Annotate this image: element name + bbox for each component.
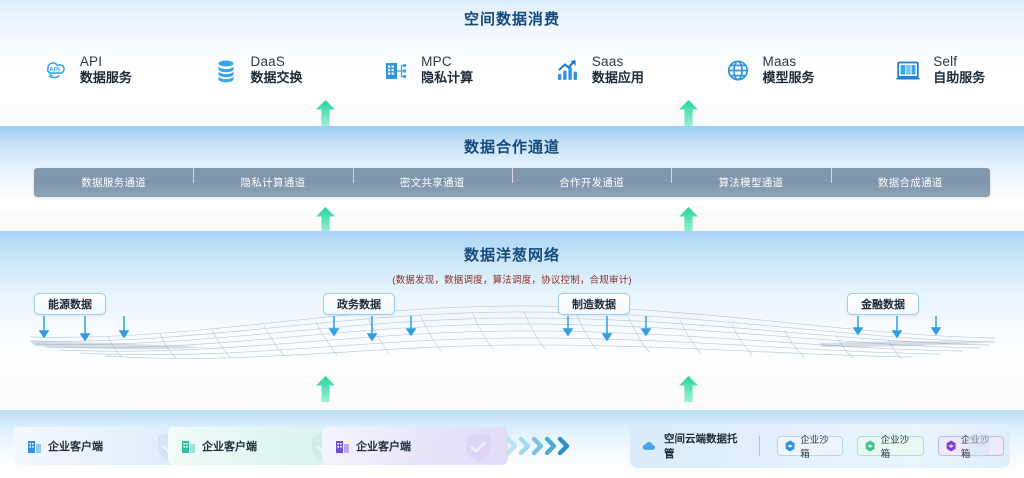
chevron-right-group-icon	[505, 435, 577, 457]
arrow-up-icon	[316, 100, 335, 126]
channel-item-data-service[interactable]: 数据服务通道	[34, 175, 193, 190]
channel-item-data-synthesis[interactable]: 数据合成通道	[831, 175, 990, 190]
consumption-item-en: Saas	[592, 54, 644, 71]
consumption-item-en: MPC	[421, 54, 473, 71]
architecture-diagram: 空间数据消费 API API 数据服务	[0, 0, 1024, 478]
consumption-item-row: API API 数据服务	[0, 40, 1024, 100]
channel-item-privacy-compute[interactable]: 隐私计算通道	[193, 175, 352, 190]
consumption-panel: 空间数据消费 API API 数据服务	[0, 0, 1024, 104]
cloud-hosting-card[interactable]: 空间云端数据托管 企业沙箱 企业沙箱	[630, 424, 1010, 468]
building-icon	[182, 439, 195, 453]
consumption-item-en: API	[80, 54, 132, 71]
consumption-item-mpc[interactable]: MPC 隐私计算	[341, 54, 512, 87]
shield-icon	[966, 431, 992, 459]
flow-gap-3	[0, 375, 1024, 410]
consumption-title: 空间数据消费	[0, 0, 1024, 29]
consumption-item-en: DaaS	[251, 54, 303, 71]
consumption-item-text: Maas 模型服务	[763, 54, 815, 87]
client-card-label: 企业客户端	[48, 438, 103, 454]
consumption-item-text: Saas 数据应用	[592, 54, 644, 87]
consumption-item-cn: 数据交换	[251, 70, 303, 86]
channel-item-joint-development[interactable]: 合作开发通道	[512, 175, 671, 190]
consumption-item-cn: 数据服务	[80, 70, 132, 86]
arrow-up-icon	[316, 207, 335, 233]
cooperation-panel: 数据合作通道 数据服务通道 隐私计算通道 密文共享通道 合作开发通道 算法模型通…	[0, 126, 1024, 214]
consumption-item-text: API 数据服务	[80, 54, 132, 87]
laptop-icon	[892, 54, 924, 86]
consumption-item-text: Self 自助服务	[933, 54, 985, 87]
data-feed-arrows	[0, 231, 1024, 375]
arrow-up-icon	[679, 376, 698, 402]
hexagon-icon	[865, 440, 875, 452]
consumption-item-api[interactable]: API API 数据服务	[0, 54, 171, 87]
arrow-up-icon	[679, 100, 698, 126]
flow-gap-1	[0, 104, 1024, 126]
svg-text:API: API	[49, 67, 60, 74]
hexagon-icon	[946, 440, 956, 452]
consumption-item-cn: 隐私计算	[421, 70, 473, 86]
divider	[759, 436, 760, 456]
sandbox-label: 企业沙箱	[881, 432, 916, 460]
bar-chart-arrow-icon	[551, 54, 583, 86]
consumption-item-en: Maas	[763, 54, 815, 71]
flow-gap-2	[0, 214, 1024, 231]
consumption-item-text: MPC 隐私计算	[421, 54, 473, 87]
clients-panel: 企业客户端 企业客户端	[0, 410, 1024, 478]
client-card[interactable]: 企业客户端	[322, 427, 508, 465]
consumption-item-cn: 模型服务	[763, 70, 815, 86]
arrow-up-icon	[679, 207, 698, 233]
api-cloud-icon: API	[39, 54, 71, 86]
globe-icon	[722, 54, 754, 86]
building-icon	[28, 439, 41, 453]
arrow-up-icon	[316, 376, 335, 402]
consumption-item-cn: 数据应用	[592, 70, 644, 86]
channel-bar: 数据服务通道 隐私计算通道 密文共享通道 合作开发通道 算法模型通道 数据合成通…	[34, 168, 990, 197]
consumption-item-saas[interactable]: Saas 数据应用	[512, 54, 683, 87]
cloud-icon	[642, 440, 656, 452]
cloud-hosting-label: 空间云端数据托管	[664, 431, 742, 461]
consumption-item-text: DaaS 数据交换	[251, 54, 303, 87]
consumption-item-self[interactable]: Self 自助服务	[853, 54, 1024, 87]
consumption-item-cn: 自助服务	[933, 70, 985, 86]
building-network-icon	[380, 54, 412, 86]
sandbox-pill[interactable]: 企业沙箱	[857, 436, 923, 456]
channel-item-ciphertext-share[interactable]: 密文共享通道	[353, 175, 512, 190]
hexagon-icon	[785, 440, 795, 452]
onion-network-panel: 数据洋葱网络 (数据发现，数据调度，算法调度，协议控制，合规审计)	[0, 231, 1024, 375]
database-icon	[210, 54, 242, 86]
building-icon	[336, 439, 349, 453]
client-card-label: 企业客户端	[356, 438, 411, 454]
channel-item-algorithm-model[interactable]: 算法模型通道	[671, 175, 830, 190]
consumption-item-maas[interactable]: Maas 模型服务	[683, 54, 854, 87]
client-card-label: 企业客户端	[202, 438, 257, 454]
sandbox-pill[interactable]: 企业沙箱	[777, 436, 843, 456]
consumption-item-daas[interactable]: DaaS 数据交换	[171, 54, 342, 87]
cooperation-title: 数据合作通道	[0, 126, 1024, 157]
shield-check-icon	[464, 432, 492, 462]
sandbox-label: 企业沙箱	[800, 432, 835, 460]
consumption-item-en: Self	[933, 54, 985, 71]
